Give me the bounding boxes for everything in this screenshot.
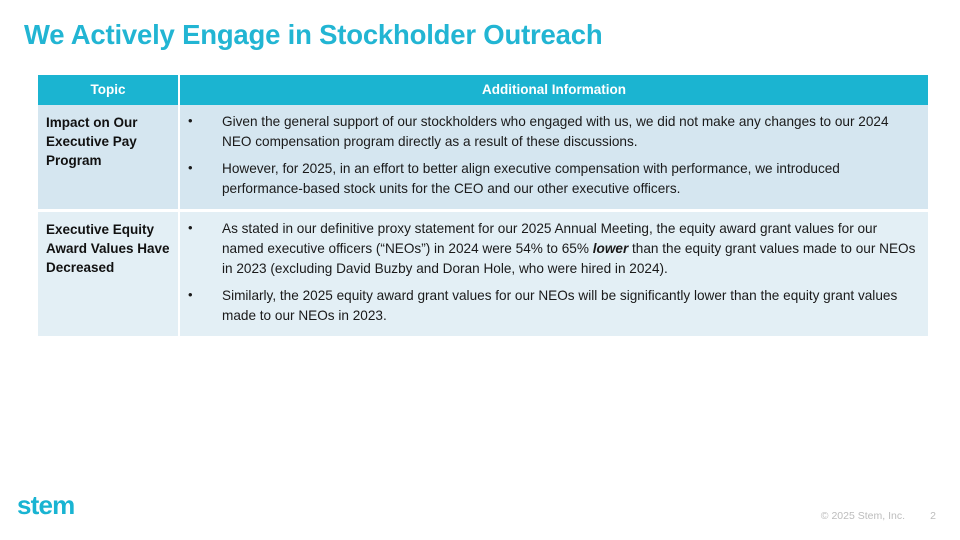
- outreach-table: Topic Additional Information Impact on O…: [38, 75, 928, 339]
- bullet-text-pre: However, for 2025, in an effort to bette…: [222, 161, 840, 196]
- bullet-text-pre: Given the general support of our stockho…: [222, 114, 889, 149]
- table-row: Executive Equity Award Values Have Decre…: [38, 212, 928, 339]
- list-item: As stated in our definitive proxy statem…: [180, 219, 918, 279]
- page-title: We Actively Engage in Stockholder Outrea…: [24, 18, 924, 51]
- list-item: However, for 2025, in an effort to bette…: [180, 159, 918, 199]
- info-cell: Given the general support of our stockho…: [180, 105, 928, 212]
- column-header-topic: Topic: [38, 75, 180, 105]
- slide-canvas: We Actively Engage in Stockholder Outrea…: [0, 0, 960, 540]
- bullet-list: As stated in our definitive proxy statem…: [180, 219, 918, 326]
- table-header-row: Topic Additional Information: [38, 75, 928, 105]
- bullet-list: Given the general support of our stockho…: [180, 112, 918, 199]
- bullet-text-emphasis: lower: [593, 241, 629, 256]
- bullet-text-pre: Similarly, the 2025 equity award grant v…: [222, 288, 897, 323]
- outreach-table-wrapper: Topic Additional Information Impact on O…: [38, 75, 928, 339]
- list-item: Similarly, the 2025 equity award grant v…: [180, 286, 918, 326]
- column-header-additional-information: Additional Information: [180, 75, 928, 105]
- topic-cell: Executive Equity Award Values Have Decre…: [38, 212, 180, 339]
- list-item: Given the general support of our stockho…: [180, 112, 918, 152]
- topic-cell: Impact on Our Executive Pay Program: [38, 105, 180, 212]
- info-cell: As stated in our definitive proxy statem…: [180, 212, 928, 339]
- table-row: Impact on Our Executive Pay Program Give…: [38, 105, 928, 212]
- page-number: 2: [930, 510, 936, 522]
- stem-logo: stem: [17, 492, 75, 518]
- copyright-text: © 2025 Stem, Inc.: [821, 510, 905, 522]
